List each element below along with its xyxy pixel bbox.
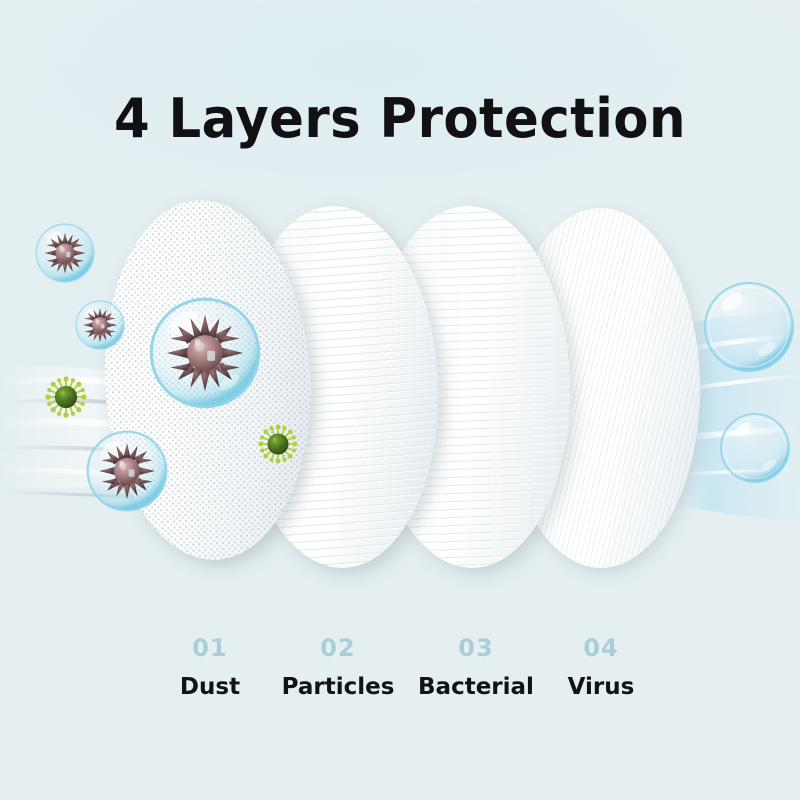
layer-name-4: Virus (542, 676, 660, 699)
layer-label-3: 03 Bacterial (412, 636, 540, 699)
layer-name-1: Dust (150, 676, 270, 699)
poster-canvas: 4 Layers Protection (0, 0, 800, 800)
layer-number-2: 02 (278, 636, 398, 660)
layer-label-1: 01 Dust (150, 636, 270, 699)
layer-number-1: 01 (150, 636, 270, 660)
layer-label-2: 02 Particles (278, 636, 398, 699)
layer-label-row: 01 Dust 02 Particles 03 Bacterial 04 Vir… (0, 636, 800, 726)
layer-label-4: 04 Virus (542, 636, 660, 699)
layer-name-3: Bacterial (412, 676, 540, 699)
layer-name-2: Particles (278, 676, 398, 699)
layer-number-4: 04 (542, 636, 660, 660)
layer-number-3: 03 (412, 636, 540, 660)
